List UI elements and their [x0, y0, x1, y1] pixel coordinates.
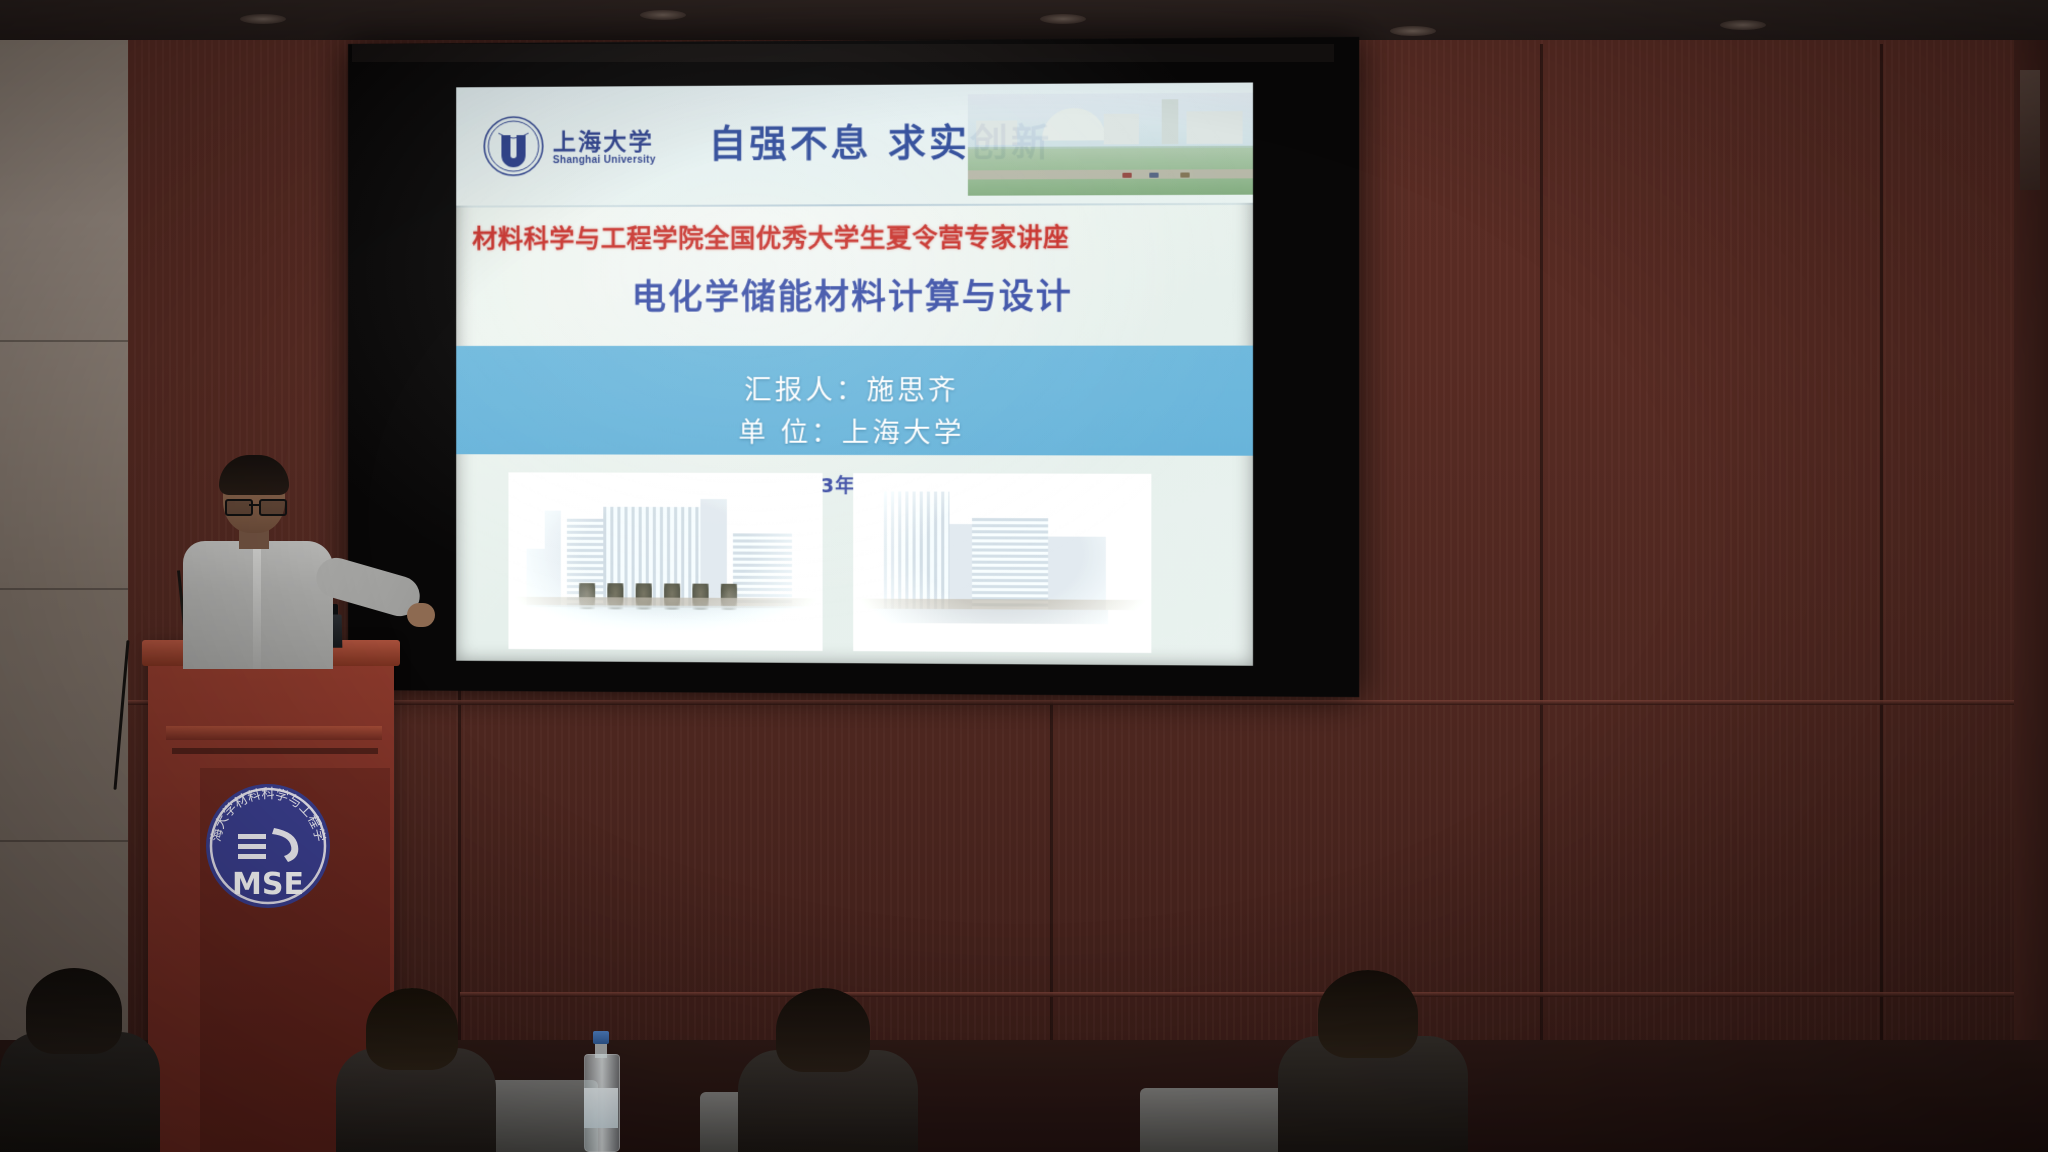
water-bottle-icon[interactable]: [584, 1028, 618, 1152]
wall-seam: [1880, 44, 1883, 1050]
ceiling-light-icon: [1040, 14, 1086, 24]
lecture-hall-scene: 上海大学 Shanghai University 自强不息 求实创新: [0, 0, 2048, 1152]
slide-main-title: 电化学储能材料计算与设计: [456, 268, 1253, 319]
mse-school-emblem-icon: 上海大学材料科学与工程学院 MSE: [204, 782, 332, 910]
svg-text:MSE: MSE: [232, 867, 304, 902]
ceiling-light-icon: [240, 14, 286, 24]
audience-front-center-left: [336, 992, 506, 1152]
podium-lip: [166, 726, 382, 740]
speaker-person: [175, 455, 425, 665]
presenter-name-line: 汇报人：施思齐: [456, 368, 1253, 408]
university-name-cn: 上海大学: [553, 122, 654, 157]
speaker-shirt-placket: [253, 545, 261, 669]
screen-top-casing: [352, 44, 1334, 62]
campus-photo-row: [456, 472, 1253, 657]
presentation-slide: 上海大学 Shanghai University 自强不息 求实创新: [456, 82, 1253, 665]
podium-shadow-line: [172, 748, 378, 754]
ceiling-light-icon: [640, 10, 686, 20]
shanghai-university-logo-icon: [482, 115, 544, 178]
wall-right-edge: [2014, 40, 2048, 1050]
speaker-hair: [219, 455, 289, 495]
speaker-hand: [407, 603, 435, 627]
wall-seam: [1050, 700, 1053, 1050]
wall-rail: [460, 992, 2048, 997]
wall-vent-icon: [2020, 70, 2040, 190]
campus-photo-left: [508, 472, 822, 651]
slide-header: 上海大学 Shanghai University 自强不息 求实创新: [456, 82, 1253, 205]
audience-front-left: [0, 972, 170, 1152]
campus-photo-right: [853, 473, 1151, 653]
wall-seam: [1540, 44, 1543, 1050]
university-name-en: Shanghai University: [553, 155, 656, 167]
audience-front-center: [738, 992, 928, 1152]
presenter-affiliation-line: 单 位：上海大学: [456, 410, 1253, 451]
stone-wall-left: [0, 40, 128, 1040]
presenter-band: 汇报人：施思齐 单 位：上海大学: [456, 346, 1253, 456]
wall-rail: [120, 700, 2048, 705]
ceiling-light-icon: [1390, 26, 1436, 36]
ceiling-light-icon: [1720, 20, 1766, 30]
glasses-icon: [225, 499, 283, 512]
audience-front-right: [1278, 972, 1478, 1152]
audience-chair: [1140, 1088, 1300, 1152]
projection-screen: 上海大学 Shanghai University 自强不息 求实创新: [348, 37, 1359, 697]
lecture-series-title: 材料科学与工程学院全国优秀大学生夏令营专家讲座: [472, 217, 1236, 256]
campus-banner-image: [968, 93, 1253, 196]
